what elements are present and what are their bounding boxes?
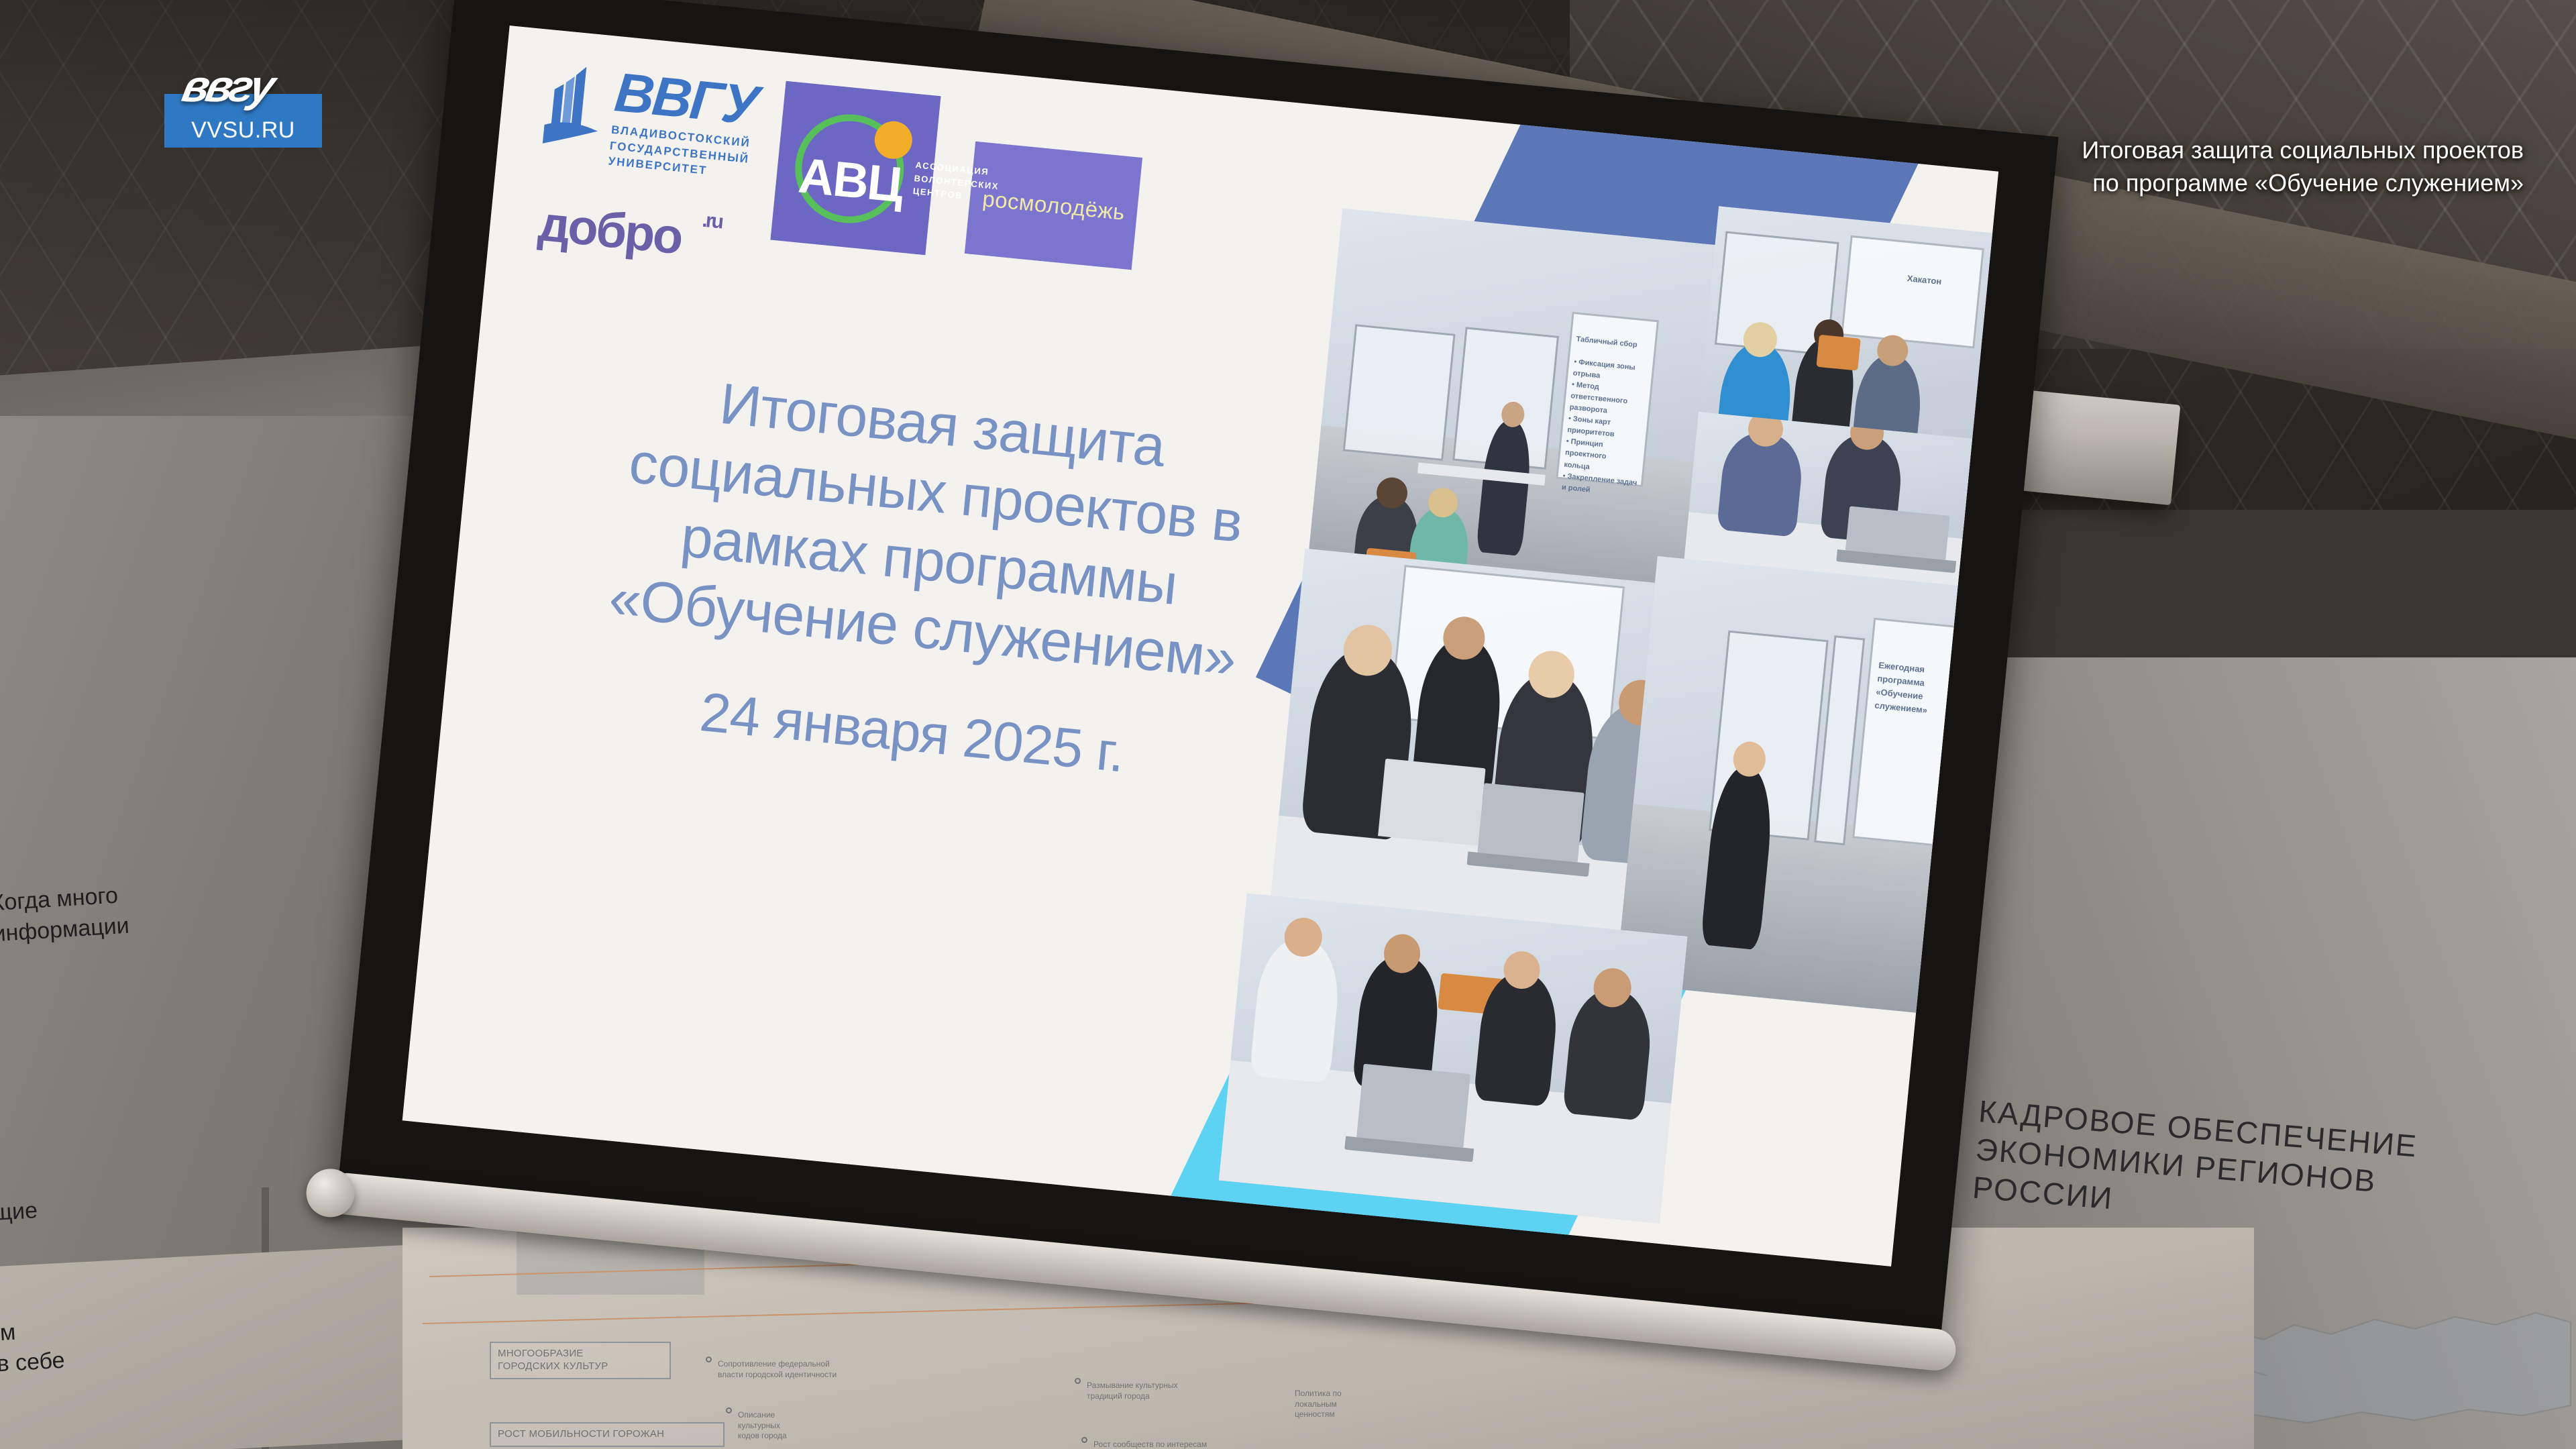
screen-surface: ввгу владивостокский государственный уни…: [402, 25, 1998, 1267]
infographic-note: Сопротивление федеральной власти городск…: [718, 1359, 837, 1380]
watermark-plate: ввгу VVSU.RU: [164, 94, 322, 148]
projector-screen-assembly: ●Lumien: [334, 0, 2165, 1396]
slide-title: Итоговая защита социальных проектов в ра…: [525, 354, 1340, 702]
channel-watermark: ввгу VVSU.RU: [164, 94, 322, 148]
wall-text-information: Когда много информации: [0, 880, 130, 950]
infographic-note: Рост сообществ по интересам: [1093, 1440, 1207, 1449]
vvgu-logo: ввгу владивостокский государственный уни…: [538, 58, 759, 183]
avc-logo: АВЦ ассоциация волонтерских центров: [771, 81, 941, 256]
dobro-logo: добро .ru: [537, 199, 684, 262]
infographic-node: [1075, 1378, 1081, 1384]
collage-inner-slide-text: Ежегодная программа «Обучение служением»: [1874, 659, 1953, 720]
infographic-box: РОСТ МОБИЛЬНОСТИ ГОРОЖАН: [490, 1422, 724, 1447]
rosmolodezh-logo: росмолодёжь: [965, 142, 1142, 270]
screenshot-root: МНОГООБРАЗИЕ ГОРОДСКИХ КУЛЬТУР РОСТ МОБИ…: [0, 0, 2576, 1449]
vvgu-wordmark: ввгу: [612, 68, 759, 131]
infographic-node: [726, 1407, 732, 1413]
infographic-node: [706, 1356, 712, 1362]
collage-photo-seated-students: [1219, 894, 1688, 1224]
infographic-note: Политика по локальным ценностям: [1295, 1389, 1342, 1420]
infographic-note: Описание культурных кодов города: [738, 1410, 787, 1442]
infographic-note: Размывание культурных традиций города: [1087, 1381, 1178, 1401]
vvsu-url: VVSU.RU: [164, 117, 322, 144]
infographic-box: МНОГООБРАЗИЕ ГОРОДСКИХ КУЛЬТУР: [490, 1342, 671, 1379]
wall-text-notice: замечаем их, чем в себе: [0, 1315, 66, 1385]
avc-wordmark: АВЦ: [796, 146, 905, 213]
vvsu-logo-mark: ввгу: [178, 60, 276, 111]
collage-inner-slide-text: Табличный сбор • Фиксация зоны отрыва • …: [1561, 334, 1652, 500]
avc-subtitle: ассоциация волонтерских центров: [912, 158, 988, 205]
infographic-node: [1081, 1437, 1087, 1443]
broadcast-caption: Итоговая защита социальных проектов по п…: [2082, 134, 2524, 199]
photo-collage: Табличный сбор • Фиксация зоны отрыва • …: [1217, 105, 1998, 1267]
screen-frame: ввгу владивостокский государственный уни…: [339, 0, 2058, 1332]
slide-title-block: Итоговая защита социальных проектов в ра…: [515, 354, 1340, 803]
dobro-wordmark: добро .ru: [537, 199, 684, 262]
vvgu-book-icon: [539, 58, 606, 152]
presentation-slide: ввгу владивостокский государственный уни…: [402, 25, 1998, 1267]
dobro-tld: .ru: [701, 211, 722, 233]
wall-text-existing: ти, ществующие: [0, 1165, 38, 1233]
vvgu-text-block: ввгу владивостокский государственный уни…: [608, 64, 760, 182]
rosmolodezh-wordmark: росмолодёжь: [981, 186, 1126, 225]
